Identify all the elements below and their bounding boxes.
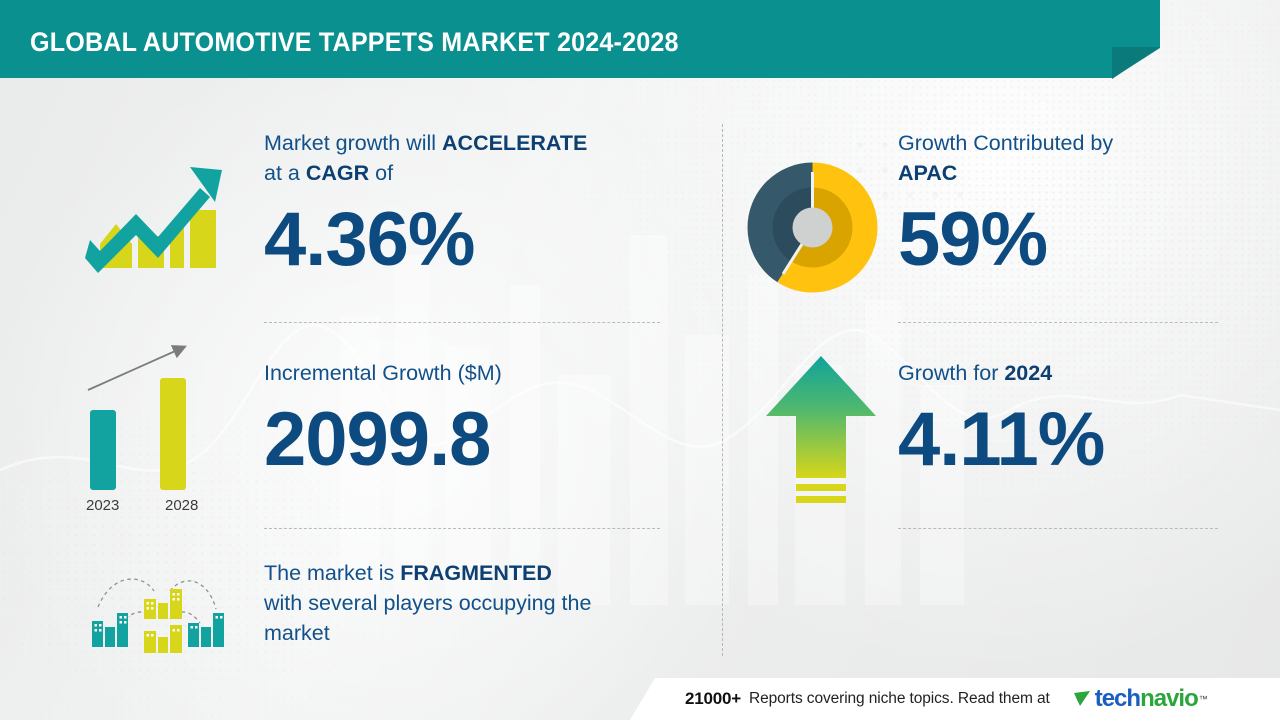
bar-comparison-icon <box>72 335 232 520</box>
cagr-caption-tail: of <box>369 161 393 185</box>
growth-arrow-chart-icon <box>72 140 232 300</box>
growth-2024-caption-bold: 2024 <box>1004 361 1052 385</box>
footer-text: Reports covering niche topics. Read them… <box>749 690 1050 708</box>
divider-left-lower <box>264 528 660 529</box>
cagr-caption-plain-2: at a <box>264 161 306 185</box>
apac-value: 59% <box>898 202 1228 278</box>
infographic-canvas: GLOBAL AUTOMOTIVE TAPPETS MARKET 2024-20… <box>0 0 1280 720</box>
apac-caption-plain: Growth Contributed by <box>898 131 1113 155</box>
technavio-logo-tech: tech <box>1095 685 1140 712</box>
apac-caption-bold: APAC <box>898 161 957 185</box>
fragmentation-line3: market <box>264 621 330 645</box>
footer-report-count: 21000+ <box>685 689 741 709</box>
header-fold-corner <box>1112 47 1161 91</box>
stat-block-incremental-growth: Incremental Growth ($M) 2099.8 <box>264 358 694 478</box>
bar-label-2028: 2028 <box>165 497 198 514</box>
technavio-logo-navio: navio <box>1140 685 1198 712</box>
cagr-caption: Market growth will ACCELERATE at a CAGR … <box>264 128 694 188</box>
incremental-growth-value: 2099.8 <box>264 402 694 478</box>
cagr-value: 4.36% <box>264 202 694 278</box>
city-buildings-network-icon <box>78 565 238 657</box>
fragmentation-line1-plain: The market is <box>264 561 400 585</box>
fragmentation-caption: The market is FRAGMENTED with several pl… <box>264 558 694 648</box>
page-title: GLOBAL AUTOMOTIVE TAPPETS MARKET 2024-20… <box>30 27 679 58</box>
cagr-caption-plain-1: Market growth will <box>264 131 442 155</box>
divider-right-lower <box>898 528 1218 529</box>
cagr-caption-bold-cagr: CAGR <box>306 161 369 185</box>
stat-block-apac: Growth Contributed by APAC 59% <box>898 128 1228 278</box>
stat-block-fragmentation: The market is FRAGMENTED with several pl… <box>264 558 694 648</box>
technavio-logo[interactable]: technavio ™ <box>1072 687 1208 711</box>
fragmentation-line1-bold: FRAGMENTED <box>400 561 552 585</box>
incremental-growth-caption: Incremental Growth ($M) <box>264 358 694 388</box>
bar-label-2023: 2023 <box>86 497 119 514</box>
fragmentation-line2: with several players occupying the <box>264 591 591 615</box>
growth-2024-value: 4.11% <box>898 402 1228 478</box>
stat-block-cagr: Market growth will ACCELERATE at a CAGR … <box>264 128 694 278</box>
footer-bar: 21000+ Reports covering niche topics. Re… <box>630 678 1280 720</box>
column-divider <box>722 124 723 656</box>
upward-arrow-icon <box>762 352 880 512</box>
technavio-arrow-icon <box>1072 688 1094 710</box>
apac-caption: Growth Contributed by APAC <box>898 128 1228 188</box>
stat-block-growth-2024: Growth for 2024 4.11% <box>898 358 1228 478</box>
donut-chart-icon <box>745 160 880 295</box>
cagr-caption-bold-accelerate: ACCELERATE <box>442 131 587 155</box>
technavio-trademark: ™ <box>1199 694 1208 704</box>
growth-2024-caption-plain: Growth for <box>898 361 1004 385</box>
growth-2024-caption: Growth for 2024 <box>898 358 1228 388</box>
divider-right-upper <box>898 322 1218 323</box>
divider-left-upper <box>264 322 660 323</box>
